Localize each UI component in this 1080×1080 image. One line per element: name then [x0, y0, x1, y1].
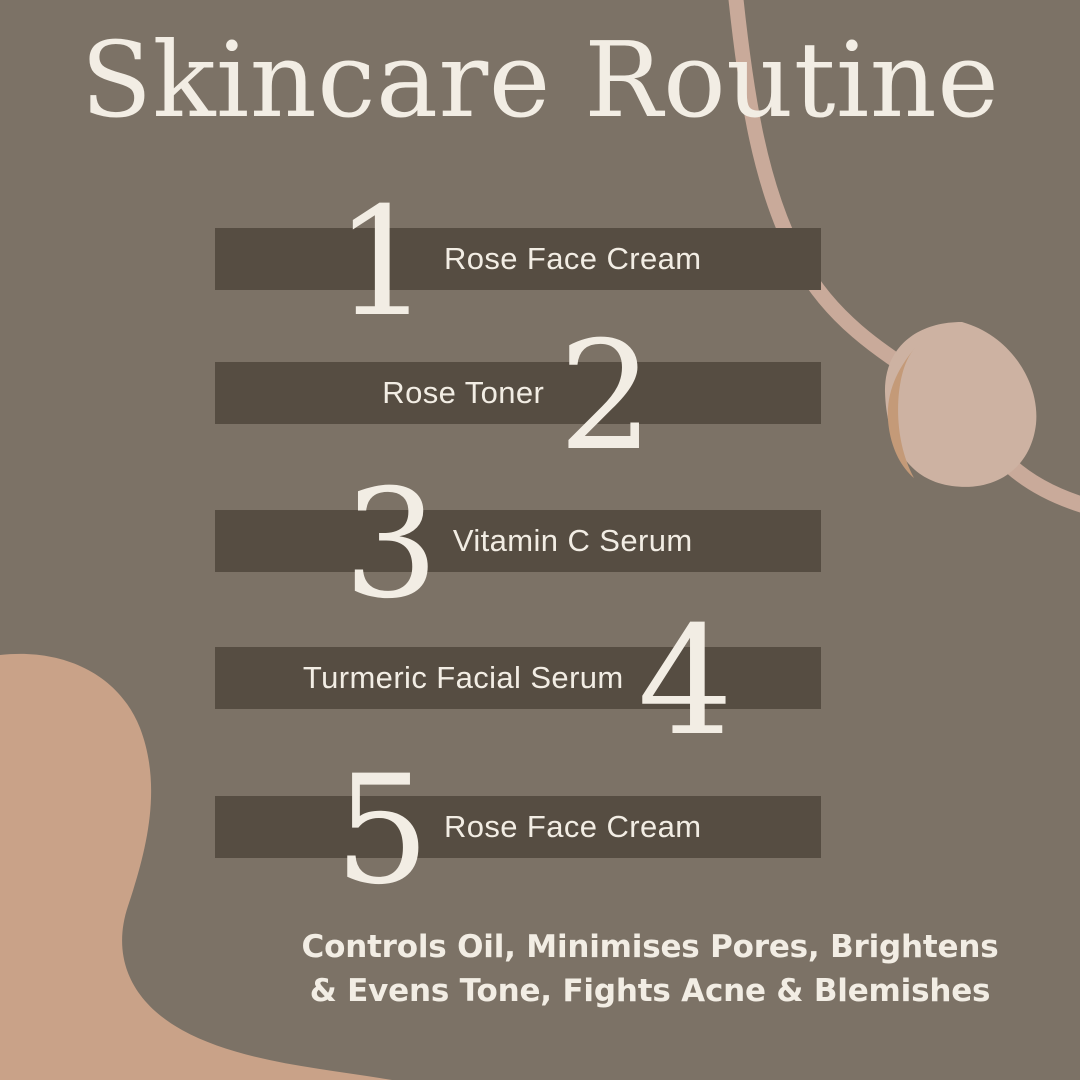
routine-steps-list: 1 Rose Face Cream Rose Toner 2 3 Vitamin… — [0, 0, 1080, 1080]
step-content: 1 Rose Face Cream — [215, 228, 821, 290]
routine-step-4[interactable]: Turmeric Facial Serum 4 — [215, 647, 821, 709]
step-label: Vitamin C Serum — [453, 523, 693, 559]
caption-line-1: Controls Oil, Minimises Pores, Brightens — [240, 925, 1060, 969]
step-content: 5 Rose Face Cream — [215, 796, 821, 858]
benefits-caption: Controls Oil, Minimises Pores, Brightens… — [240, 925, 1060, 1013]
routine-step-1[interactable]: 1 Rose Face Cream — [215, 228, 821, 290]
step-content: Turmeric Facial Serum 4 — [215, 647, 821, 709]
step-content: Rose Toner 2 — [215, 362, 821, 424]
step-label: Turmeric Facial Serum — [303, 660, 624, 696]
skincare-routine-poster: Skincare Routine 1 Rose Face Cream Rose … — [0, 0, 1080, 1080]
page-title: Skincare Routine — [0, 22, 1080, 138]
routine-step-2[interactable]: Rose Toner 2 — [215, 362, 821, 424]
step-content: 3 Vitamin C Serum — [215, 510, 821, 572]
routine-step-5[interactable]: 5 Rose Face Cream — [215, 796, 821, 858]
step-label: Rose Face Cream — [444, 241, 702, 277]
routine-step-3[interactable]: 3 Vitamin C Serum — [215, 510, 821, 572]
step-label: Rose Toner — [382, 375, 544, 411]
step-label: Rose Face Cream — [444, 809, 702, 845]
caption-line-2: & Evens Tone, Fights Acne & Blemishes — [240, 969, 1060, 1013]
